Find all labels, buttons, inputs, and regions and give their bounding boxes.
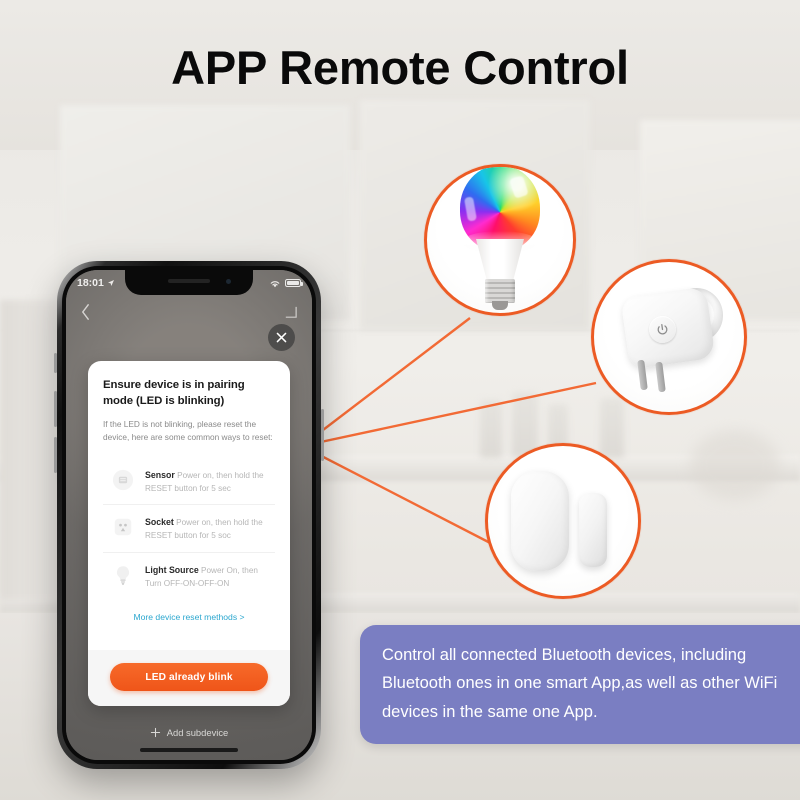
wifi-icon — [269, 279, 281, 288]
close-button[interactable] — [268, 324, 295, 351]
device-name: Light Source — [145, 565, 199, 575]
bulb-screw-base — [485, 279, 515, 303]
rgb-smart-bulb-icon — [454, 165, 546, 315]
app-nav-row — [66, 297, 312, 327]
showcase-circle-bulb — [424, 164, 576, 316]
list-item[interactable]: Socket Power on, then hold the RESET but… — [103, 505, 275, 553]
sensor-main-body — [511, 471, 569, 571]
showcase-circle-door-sensor — [485, 443, 641, 599]
phone-screen: 18:01 — [66, 270, 312, 760]
device-name: Sensor — [145, 470, 175, 480]
background-door — [0, 300, 58, 600]
bulb-neck — [476, 239, 524, 283]
led-already-blink-button[interactable]: LED already blink — [110, 663, 268, 691]
location-arrow-icon — [107, 279, 115, 287]
add-subdevice-button[interactable]: Add subdevice — [66, 727, 312, 738]
card-subtext: If the LED is not blinking, please reset… — [103, 418, 275, 443]
phone-bezel: 18:01 — [62, 266, 316, 764]
showcase-circle-plug — [591, 259, 747, 415]
add-subdevice-label: Add subdevice — [167, 727, 229, 738]
list-item[interactable]: Light Source Power On, then Turn OFF-ON-… — [103, 553, 275, 600]
socket-outlet-icon — [111, 515, 135, 539]
background-jar-4 — [600, 398, 624, 458]
chevron-left-icon[interactable] — [80, 303, 91, 321]
phone-volume-up-button[interactable] — [54, 391, 57, 427]
phone-volume-down-button[interactable] — [54, 437, 57, 473]
more-reset-methods-link[interactable]: More device reset methods > — [103, 599, 275, 642]
card-footer: LED already blink — [88, 650, 290, 706]
status-bar-time: 18:01 — [77, 277, 104, 289]
list-item-text: Sensor Power on, then hold the RESET but… — [145, 467, 275, 496]
pairing-instructions-card: Ensure device is in pairing mode (LED is… — [88, 361, 290, 706]
device-reset-list: Sensor Power on, then hold the RESET but… — [103, 458, 275, 600]
sensor-icon — [111, 468, 135, 492]
card-heading: Ensure device is in pairing mode (LED is… — [103, 377, 275, 409]
status-bar: 18:01 — [66, 270, 312, 296]
list-item-text: Socket Power on, then hold the RESET but… — [145, 514, 275, 543]
background-jar-1 — [480, 400, 502, 458]
background-blur-blob-2 — [690, 430, 780, 500]
list-item[interactable]: Sensor Power on, then hold the RESET but… — [103, 458, 275, 506]
list-item-text: Light Source Power On, then Turn OFF-ON-… — [145, 562, 275, 591]
battery-icon — [285, 279, 301, 287]
close-icon — [275, 331, 288, 344]
home-indicator[interactable] — [140, 748, 238, 752]
light-bulb-icon — [111, 563, 135, 587]
smart-plug-icon — [609, 278, 729, 396]
bulb-tip — [492, 301, 508, 310]
door-window-sensor-icon — [503, 467, 623, 575]
sensor-magnet-piece — [579, 493, 607, 567]
page-title: APP Remote Control — [0, 40, 800, 95]
scan-corner-icon[interactable] — [283, 305, 298, 320]
phone-power-button[interactable] — [321, 409, 324, 461]
device-name: Socket — [145, 517, 174, 527]
feature-caption-box: Control all connected Bluetooth devices,… — [360, 625, 800, 744]
smartphone-mockup: 18:01 — [57, 261, 321, 769]
plus-icon — [150, 727, 161, 738]
plug-pin-right — [655, 362, 666, 393]
phone-silent-switch[interactable] — [54, 353, 57, 373]
